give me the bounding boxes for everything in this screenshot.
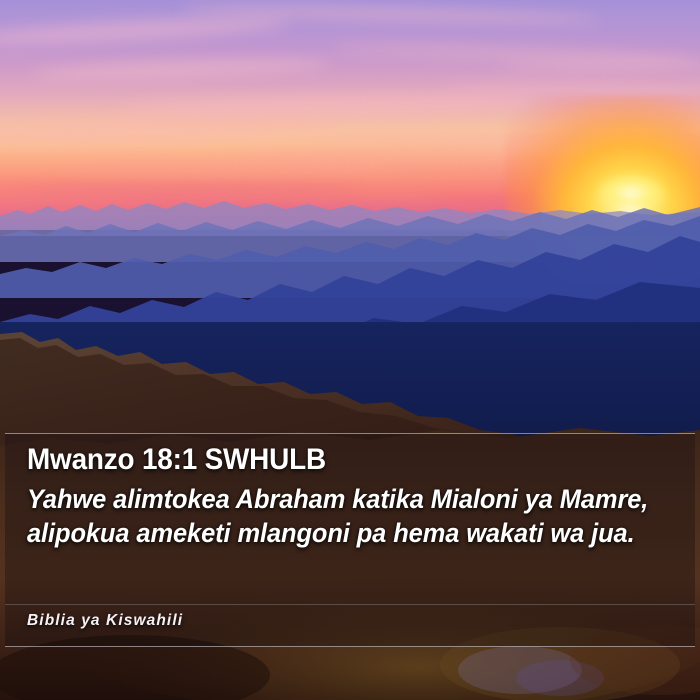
verse-overlay-panel: Mwanzo 18:1 SWHULB Yahwe alimtokea Abrah…	[5, 433, 695, 647]
verse-image-card: Mwanzo 18:1 SWHULB Yahwe alimtokea Abrah…	[0, 0, 700, 700]
verse-text: Yahwe alimtokea Abraham katika Mialoni y…	[27, 482, 668, 550]
verse-reference: Mwanzo 18:1 SWHULB	[27, 444, 648, 476]
panel-divider	[5, 604, 695, 605]
verse-source-label: Biblia ya Kiswahili	[27, 612, 183, 630]
